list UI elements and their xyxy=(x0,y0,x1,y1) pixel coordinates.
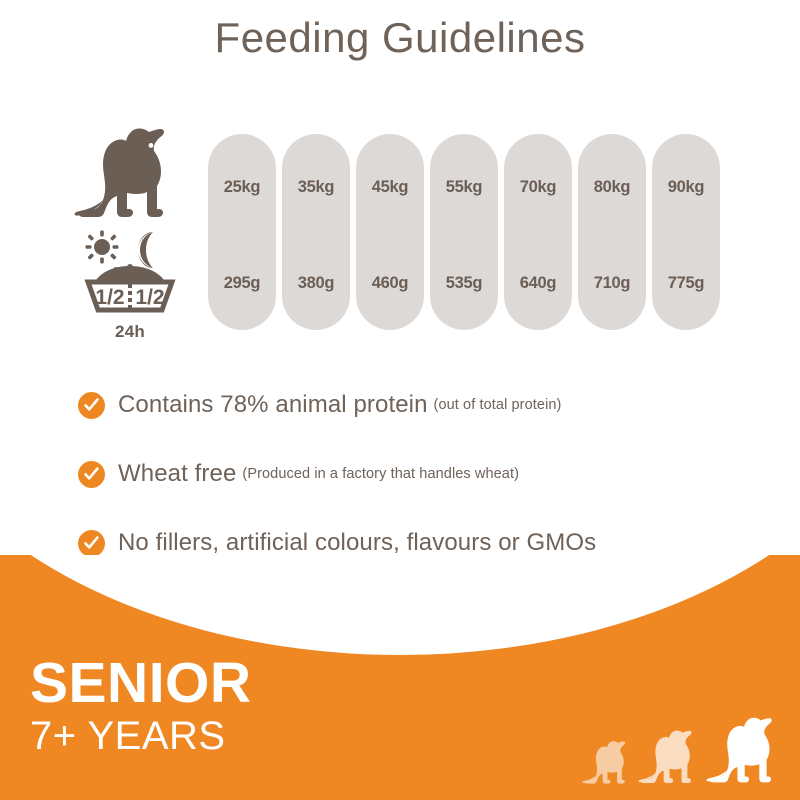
benefit-text: Wheat free xyxy=(118,460,236,488)
benefit-note: (out of total protein) xyxy=(434,397,562,413)
bowl-split-left: 1/2 xyxy=(95,286,124,309)
benefit-text: Contains 78% animal protein xyxy=(118,391,428,419)
bowl-period-label: 24h xyxy=(76,322,184,342)
benefit-text: No fillers, artificial colours, flavours… xyxy=(118,529,596,557)
benefit-item: Wheat free (Produced in a factory that h… xyxy=(78,451,758,497)
feeding-column: 70kg 640g xyxy=(504,134,572,330)
food-bowl-icon: 1/2 1/2 xyxy=(76,230,184,323)
column-weight: 80kg xyxy=(578,178,646,197)
feeding-column: 45kg 460g xyxy=(356,134,424,330)
feeding-column: 35kg 380g xyxy=(282,134,350,330)
moon-icon xyxy=(138,232,153,268)
bowl-split-right: 1/2 xyxy=(135,286,164,309)
feeding-column: 25kg 295g xyxy=(208,134,276,330)
column-amount: 380g xyxy=(282,274,350,293)
feeding-row-icons: 1/2 1/2 24h xyxy=(62,126,202,346)
column-weight: 55kg xyxy=(430,178,498,197)
feeding-column: 80kg 710g xyxy=(578,134,646,330)
feeding-columns: 25kg 295g 35kg 380g 45kg 460g 55kg 535g … xyxy=(208,134,720,330)
large-dog-icon xyxy=(706,716,782,786)
check-circle-icon xyxy=(78,392,105,419)
banner-curve xyxy=(0,555,800,655)
column-amount: 640g xyxy=(504,274,572,293)
three-dogs-size-icon xyxy=(582,716,782,786)
page-title: Feeding Guidelines xyxy=(0,14,800,62)
column-weight: 70kg xyxy=(504,178,572,197)
column-amount: 535g xyxy=(430,274,498,293)
feeding-column: 55kg 535g xyxy=(430,134,498,330)
column-amount: 295g xyxy=(208,274,276,293)
column-weight: 25kg xyxy=(208,178,276,197)
column-amount: 775g xyxy=(652,274,720,293)
column-weight: 90kg xyxy=(652,178,720,197)
column-weight: 35kg xyxy=(282,178,350,197)
check-circle-icon xyxy=(78,530,105,557)
feeding-guidelines-panel: Feeding Guidelines xyxy=(0,0,800,800)
feeding-table: 1/2 1/2 24h 25kg 295g 35kg 380g 45kg 460… xyxy=(0,126,800,346)
life-stage-banner: SENIOR 7+ YEARS xyxy=(0,555,800,800)
life-stage-label: SENIOR xyxy=(30,654,252,712)
benefit-note: (Produced in a factory that handles whea… xyxy=(242,466,519,482)
sitting-dog-icon xyxy=(74,126,178,227)
check-circle-icon xyxy=(78,461,105,488)
column-weight: 45kg xyxy=(356,178,424,197)
sun-icon xyxy=(86,231,119,264)
column-amount: 460g xyxy=(356,274,424,293)
small-dog-icon xyxy=(582,740,632,786)
age-range-label: 7+ YEARS xyxy=(30,714,252,758)
feeding-column: 90kg 775g xyxy=(652,134,720,330)
benefit-item: Contains 78% animal protein (out of tota… xyxy=(78,382,758,428)
life-stage-text-group: SENIOR 7+ YEARS xyxy=(30,654,252,758)
column-amount: 710g xyxy=(578,274,646,293)
medium-dog-icon xyxy=(638,729,700,786)
